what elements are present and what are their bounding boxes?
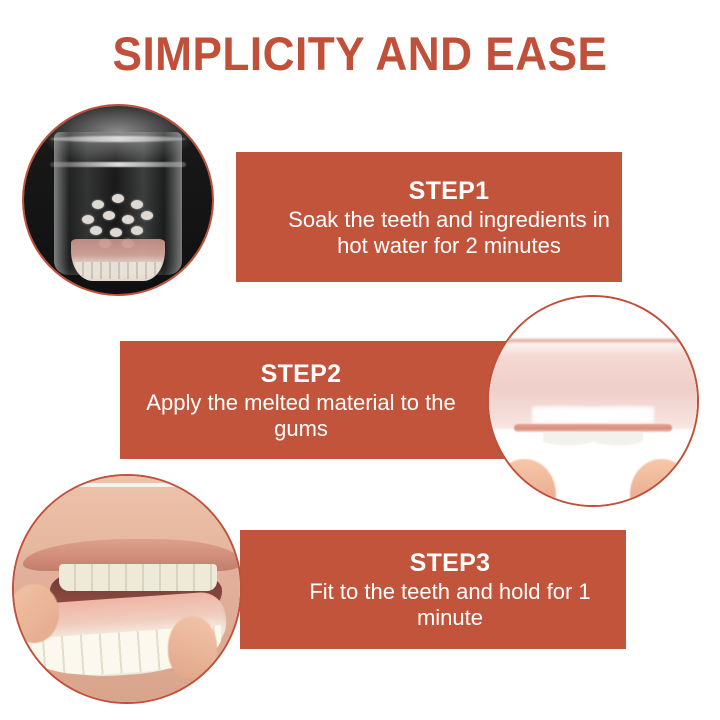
instruction-infographic: SIMPLICITY AND EASE STEP1 Soak the teeth… <box>0 0 720 720</box>
veneer-slab <box>487 339 699 429</box>
step-3-body: Fit to the teeth and hold for 1 minute <box>274 579 626 631</box>
upper-teeth <box>59 564 217 591</box>
finger <box>168 616 218 679</box>
page-title: SIMPLICITY AND EASE <box>22 26 699 82</box>
finger <box>493 459 555 507</box>
dentures-soaking-in-glass-of-water-image <box>24 106 212 294</box>
finger <box>630 459 692 507</box>
veneer-teeth <box>543 432 643 451</box>
step-1-banner: STEP1 Soak the teeth and ingredients in … <box>236 152 622 282</box>
water-line <box>50 162 185 167</box>
veneer-fitted-over-teeth-image <box>14 476 240 702</box>
photo-highlight-bar <box>59 483 186 487</box>
denture-shape <box>71 239 165 280</box>
bead <box>92 200 104 209</box>
step-2-photo <box>487 295 699 507</box>
step-1-body: Soak the teeth and ingredients in hot wa… <box>276 207 622 259</box>
step-2-body: Apply the melted material to the gums <box>120 390 482 442</box>
step-3-banner: STEP3 Fit to the teeth and hold for 1 mi… <box>240 530 626 649</box>
veneer-edge <box>514 424 672 432</box>
fingers-holding-melted-veneer-image <box>489 297 697 505</box>
step-1-heading: STEP1 <box>409 176 490 206</box>
step-3-photo <box>12 474 242 704</box>
step-2-banner: STEP2 Apply the melted material to the g… <box>120 341 510 459</box>
step-2-heading: STEP2 <box>261 359 342 389</box>
bead <box>141 211 153 220</box>
step-3-heading: STEP3 <box>410 548 491 578</box>
step-1-photo <box>22 104 214 296</box>
bead <box>122 215 134 224</box>
